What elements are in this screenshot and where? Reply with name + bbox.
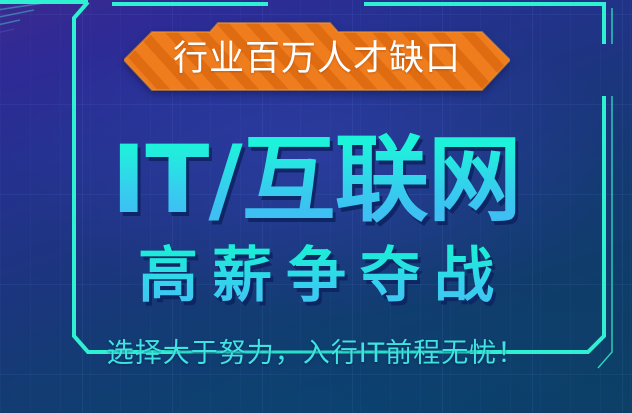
tagline: 选择大于努力，入行IT前程无忧！ <box>0 337 632 371</box>
speed-streak-decoration <box>0 0 144 48</box>
promo-poster: 行业百万人才缺口 IT/互联网 高薪争夺战 选择大于努力，入行IT前程无忧！ <box>0 0 632 413</box>
title-primary: IT/互联网 <box>0 126 632 236</box>
title-secondary: 高薪争夺战 <box>0 240 632 312</box>
headline-ribbon: 行业百万人才缺口 <box>124 20 510 101</box>
headline-block: IT/互联网 高薪争夺战 <box>0 126 632 312</box>
ribbon-label: 行业百万人才缺口 <box>124 37 510 81</box>
